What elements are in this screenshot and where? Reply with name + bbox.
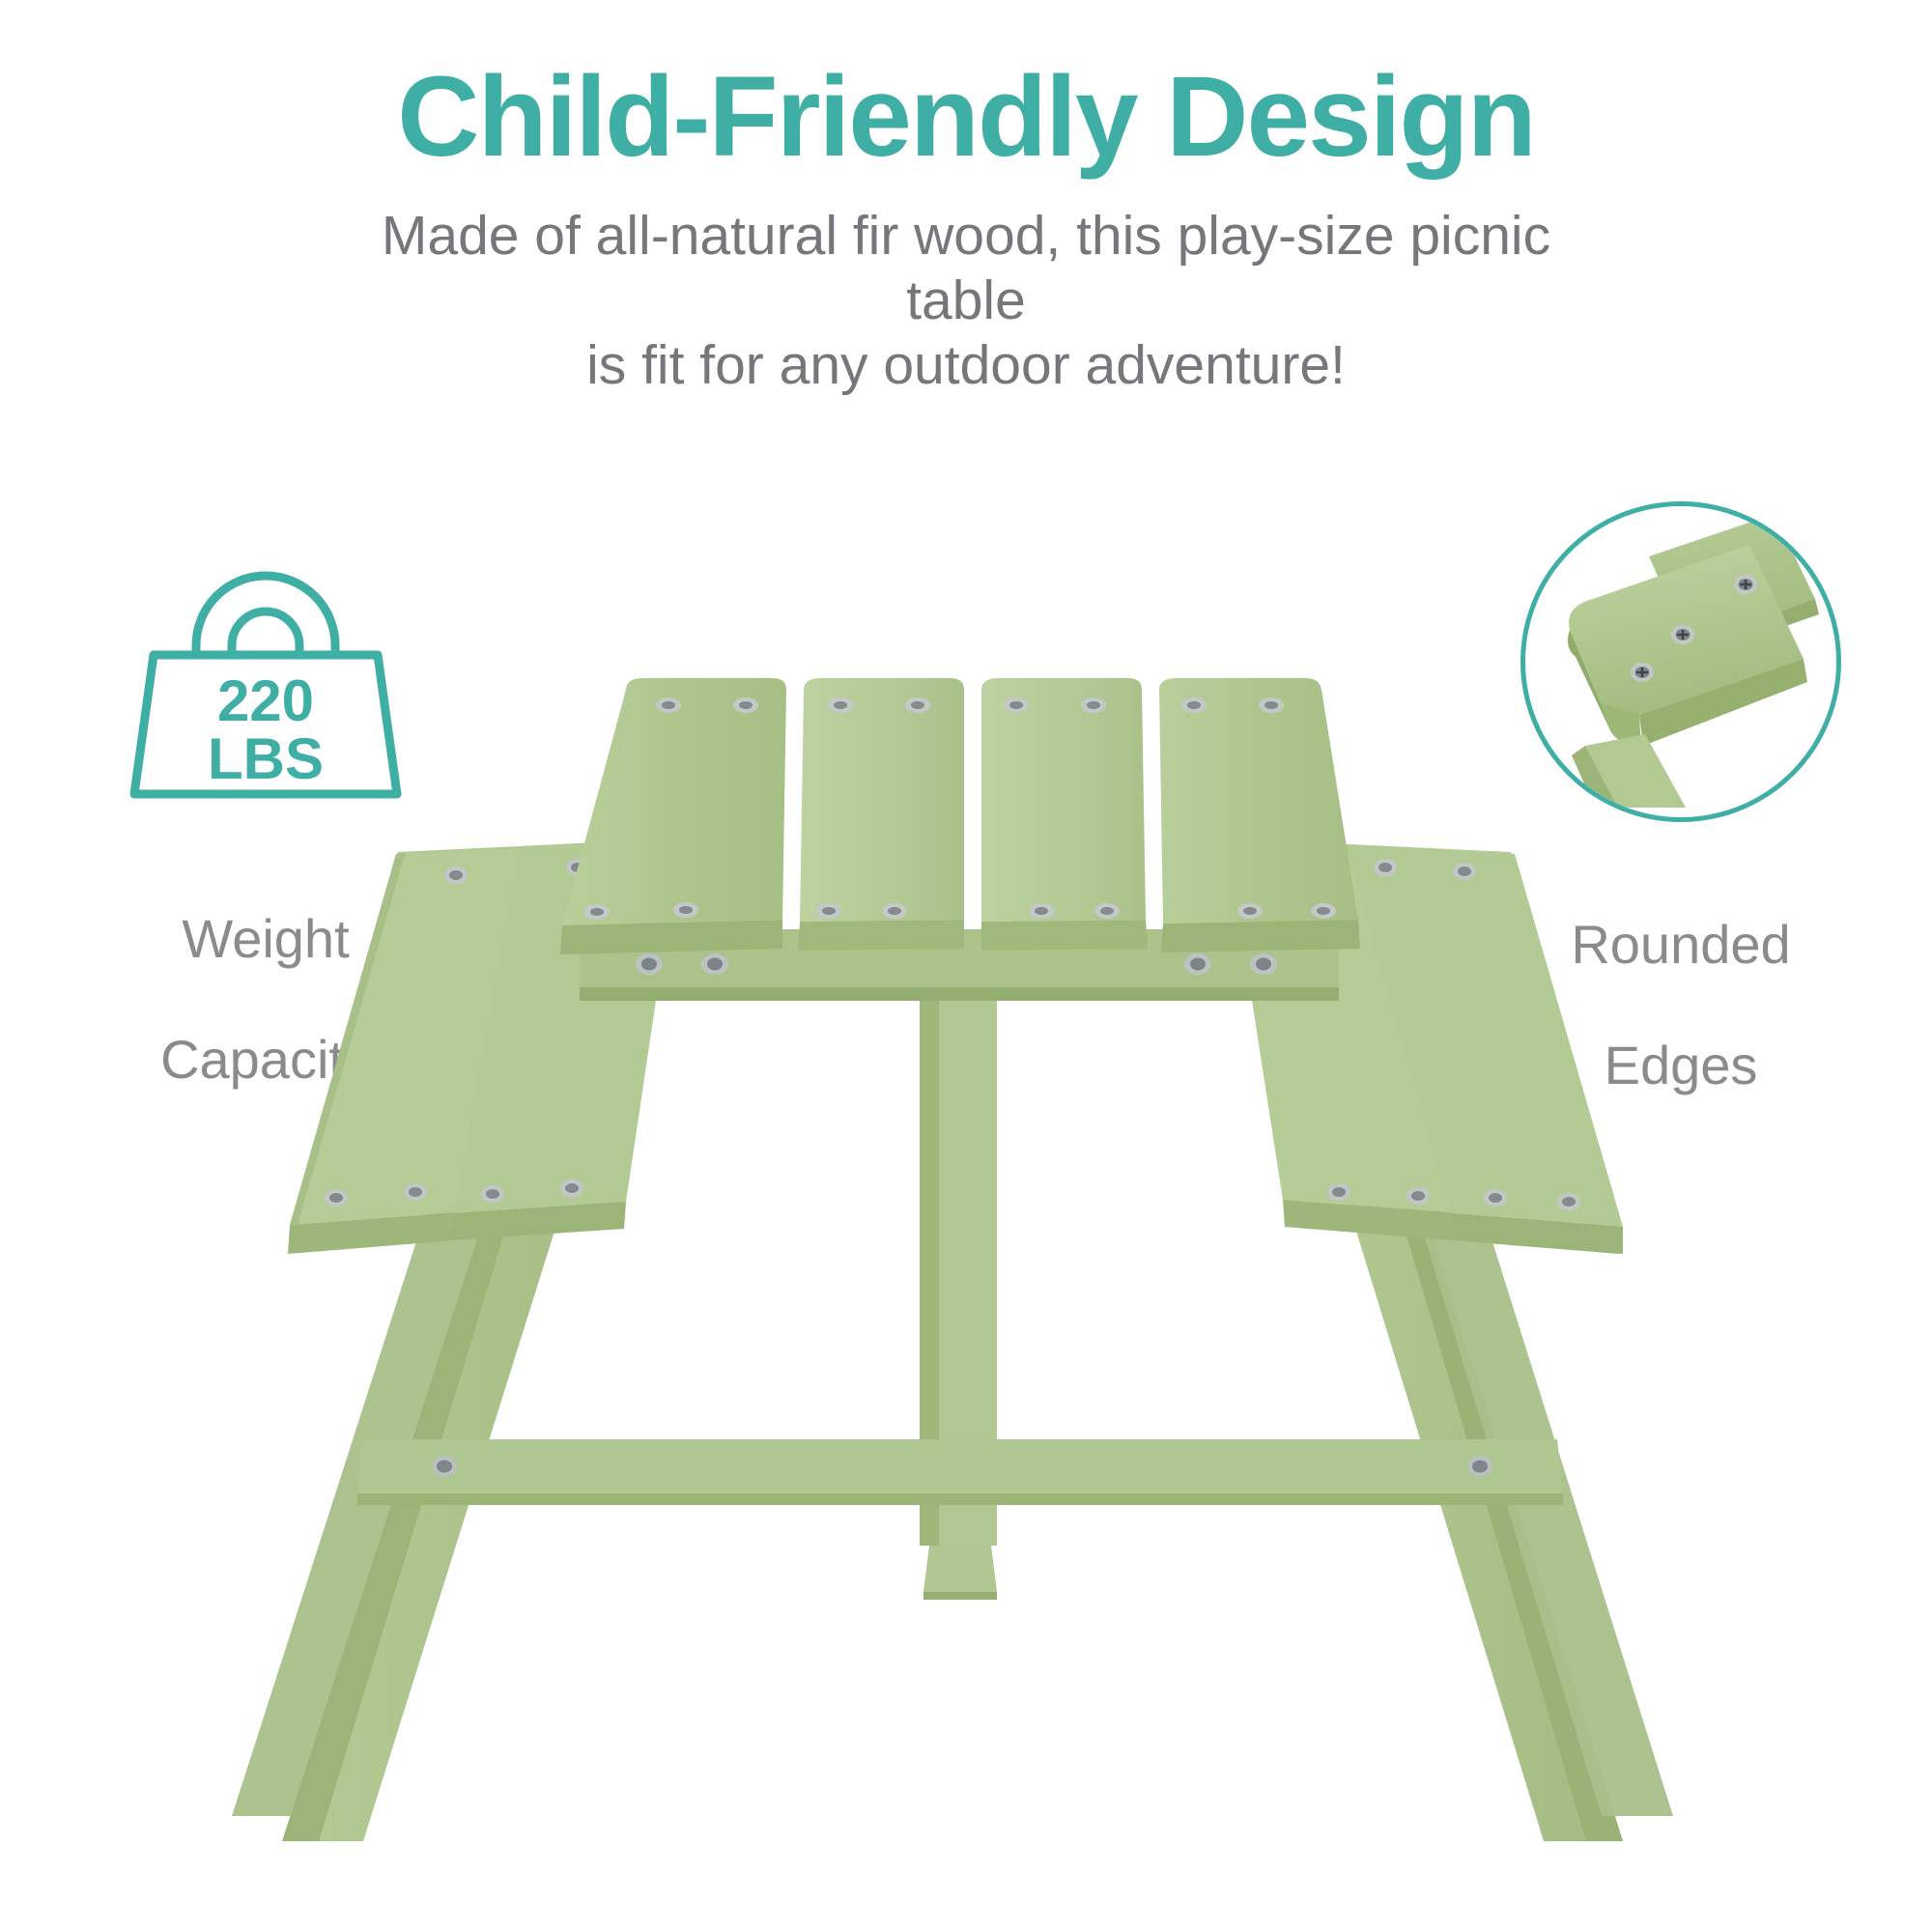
screw-icon [1374, 859, 1397, 876]
screw-icon [905, 697, 930, 713]
screw-icon [1467, 1456, 1492, 1477]
subtitle-line-1: Made of all-natural fir wood, this play-… [324, 204, 1608, 332]
header: Child-Friendly Design Made of all-natura… [0, 0, 1932, 398]
screw-icon [816, 903, 841, 919]
screw-icon [1081, 697, 1106, 713]
page-subtitle: Made of all-natural fir wood, this play-… [324, 179, 1608, 397]
screw-icon [882, 903, 907, 919]
screw-icon [636, 953, 663, 975]
screw-icon [1484, 1189, 1507, 1207]
picnic-table-illustration [174, 676, 1758, 1893]
infographic-page: Child-Friendly Design Made of all-natura… [0, 0, 1932, 1932]
screw-icon [733, 697, 758, 713]
screw-icon [325, 1189, 348, 1207]
screw-icon [1671, 625, 1694, 644]
page-title: Child-Friendly Design [0, 0, 1932, 179]
screw-icon [1029, 903, 1054, 919]
screw-icon [1453, 863, 1476, 880]
screw-icon [1327, 1183, 1350, 1201]
tabletop-slat [560, 678, 786, 954]
cross-brace [357, 1439, 1563, 1505]
screw-icon [481, 1185, 504, 1203]
screw-icon [1094, 903, 1120, 919]
subtitle-line-2: is fit for any outdoor adventure! [324, 333, 1608, 398]
screw-icon [1250, 953, 1277, 975]
screw-icon [584, 904, 610, 920]
screw-icon [1184, 953, 1211, 975]
screw-icon [1557, 1193, 1580, 1210]
screw-icon [1237, 903, 1263, 919]
screw-icon [1181, 697, 1207, 713]
screw-icon [1311, 903, 1336, 919]
screw-icon [560, 1179, 583, 1197]
screw-icon [656, 697, 681, 713]
screw-icon [404, 1183, 427, 1201]
screw-icon [673, 902, 698, 918]
tabletop-slat [798, 678, 964, 951]
product-image [174, 676, 1758, 1893]
tabletop-slat [1159, 678, 1360, 952]
screw-icon [444, 867, 468, 884]
screw-icon [701, 953, 728, 975]
screw-icon [1734, 575, 1757, 594]
tabletop [560, 678, 1360, 954]
screw-icon [1004, 697, 1029, 713]
screw-icon [432, 1456, 457, 1477]
tabletop-slat [981, 678, 1148, 951]
screw-icon [828, 697, 853, 713]
screw-icon [1259, 697, 1284, 713]
screw-icon [1406, 1187, 1430, 1205]
